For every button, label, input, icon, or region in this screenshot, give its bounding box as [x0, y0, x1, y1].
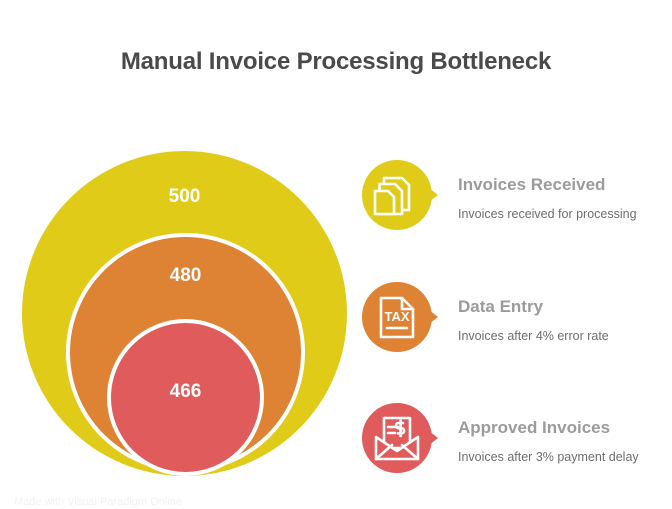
legend-description: Invoices after 4% error rate: [458, 318, 658, 345]
legend-item-data-entry[interactable]: TAX Data Entry Invoices after 4% error r…: [356, 274, 672, 384]
funnel-stage-approved-invoices[interactable]: 466: [107, 319, 264, 476]
funnel-stage-value: 500: [22, 186, 347, 208]
legend: Invoices Received Invoices received for …: [356, 0, 672, 509]
legend-badge: TAX: [362, 282, 446, 354]
svg-text:TAX: TAX: [384, 309, 409, 324]
legend-description: Invoices received for processing: [458, 196, 658, 223]
stacked-documents-icon: [362, 160, 432, 230]
tax-document-icon: TAX: [362, 282, 432, 352]
funnel-chart: 500 480 466: [0, 0, 360, 509]
legend-heading: Data Entry: [458, 274, 658, 318]
funnel-stage-value: 480: [70, 265, 301, 287]
footer-watermark: Made with Visual Paradigm Online: [14, 496, 182, 508]
legend-heading: Approved Invoices: [458, 395, 658, 439]
legend-item-approved-invoices[interactable]: Approved Invoices Invoices after 3% paym…: [356, 395, 672, 505]
legend-text-block: Invoices Received Invoices received for …: [458, 152, 658, 223]
legend-badge: [362, 160, 446, 232]
legend-heading: Invoices Received: [458, 152, 658, 196]
legend-item-invoices-received[interactable]: Invoices Received Invoices received for …: [356, 152, 672, 262]
legend-text-block: Approved Invoices Invoices after 3% paym…: [458, 395, 658, 466]
invoice-envelope-icon: [362, 403, 432, 473]
funnel-stage-value: 466: [111, 381, 260, 403]
legend-badge: [362, 403, 446, 475]
legend-text-block: Data Entry Invoices after 4% error rate: [458, 274, 658, 345]
legend-description: Invoices after 3% payment delay: [458, 439, 658, 466]
